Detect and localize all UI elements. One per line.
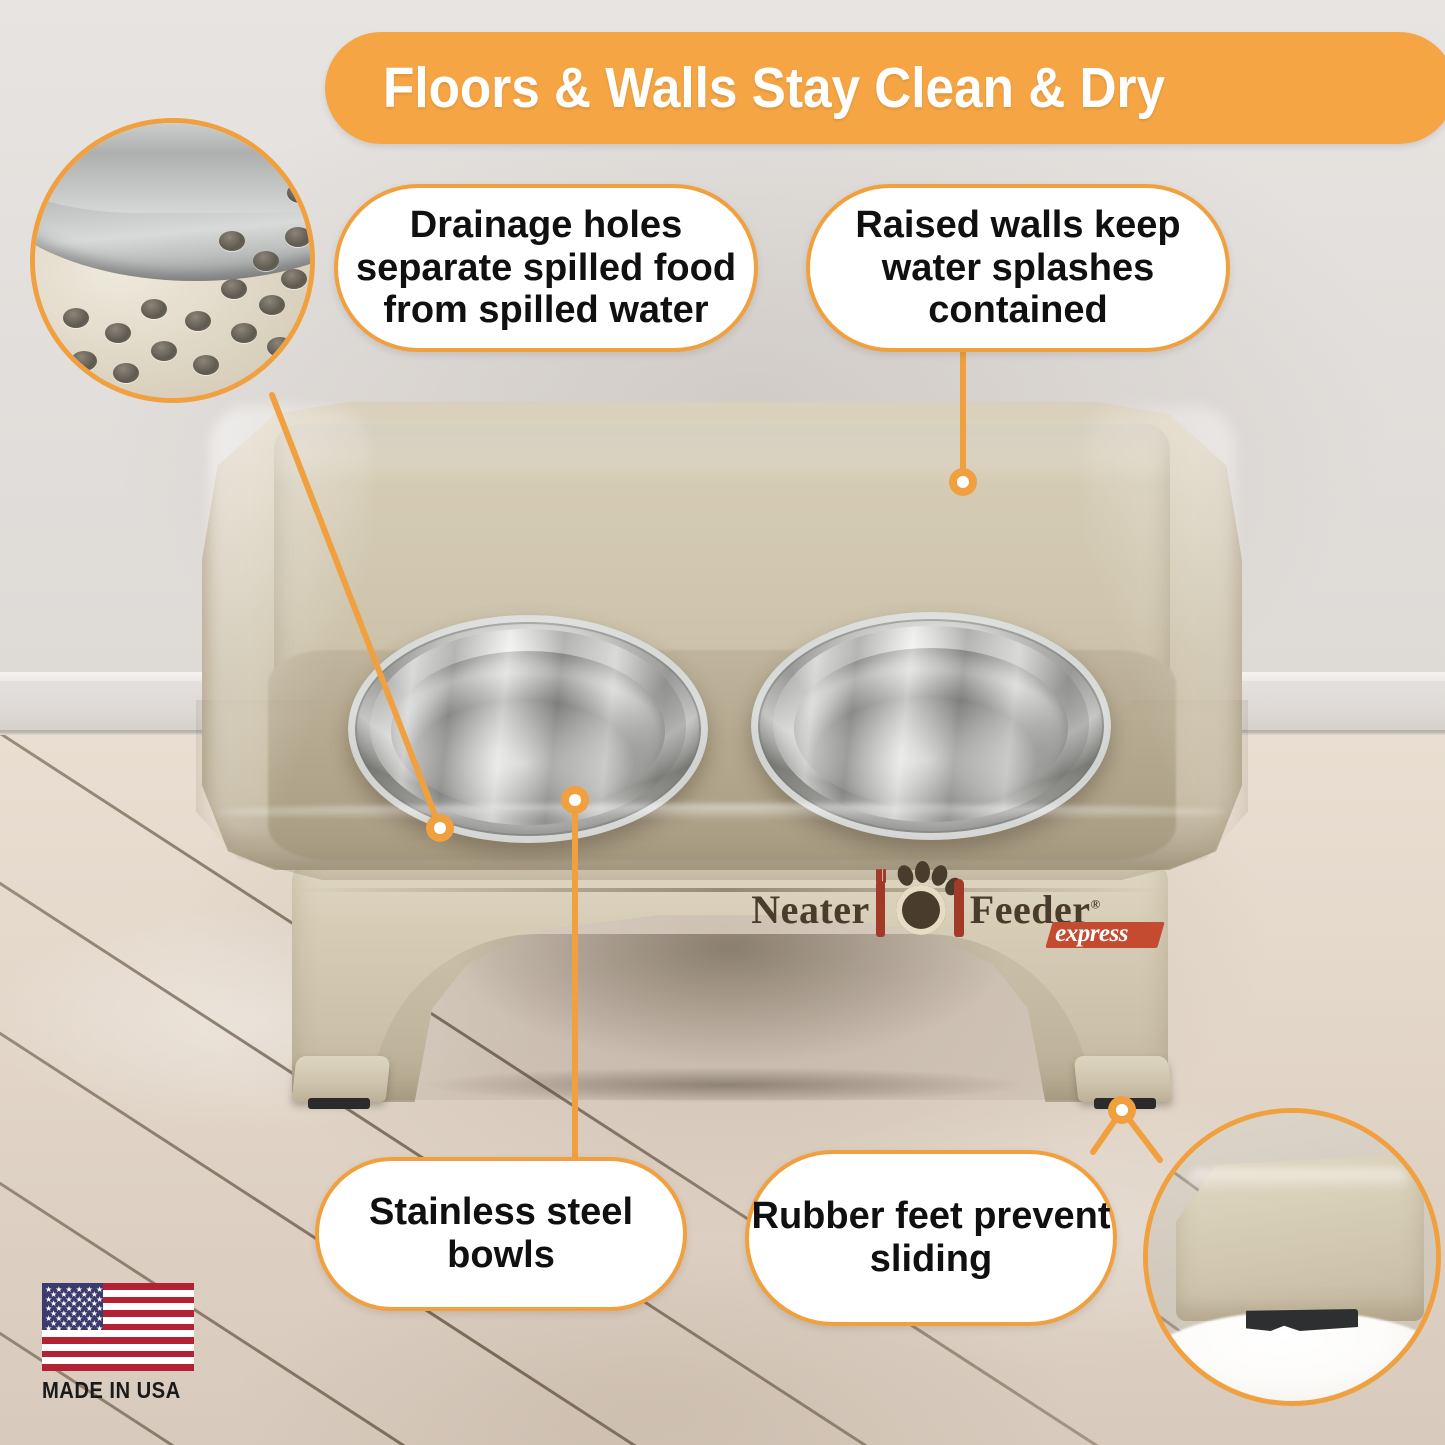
paw-plate-center <box>904 893 938 927</box>
flag-star: ★ <box>65 1325 72 1333</box>
drainage-bowl-rim <box>30 118 315 213</box>
paw-toe-1 <box>895 863 916 888</box>
neater-feeder-logo: Neater Feeder® express <box>716 860 1136 958</box>
flag-star: ★ <box>96 1325 103 1333</box>
drainage-hole <box>281 269 307 289</box>
drainage-hole <box>113 363 139 383</box>
callout-stainless-steel-bowls-label: Stainless steel bowls <box>319 1191 683 1277</box>
registered-mark: ® <box>1090 896 1100 911</box>
paw-plate-icon <box>874 863 966 955</box>
base-arch-shadow <box>372 934 1090 1100</box>
drainage-hole <box>267 337 293 357</box>
callout-rubber-feet[interactable]: Rubber feet prevent sliding <box>745 1150 1117 1326</box>
bowl-right-interior <box>794 648 1068 808</box>
anchor-dot-raised-walls <box>949 468 977 496</box>
flag-star: ★ <box>76 1325 83 1333</box>
tray-gloss-right <box>1084 406 1234 826</box>
drainage-hole <box>63 308 89 328</box>
neater-feeder-product: Neater Feeder® express <box>196 400 1248 1115</box>
flag-stripe <box>42 1364 194 1371</box>
drainage-hole <box>259 295 285 315</box>
drainage-hole <box>253 251 279 271</box>
tray-gloss-left <box>210 406 370 836</box>
drainage-hole <box>287 183 313 203</box>
callout-stainless-steel-bowls[interactable]: Stainless steel bowls <box>315 1157 687 1311</box>
anchor-dot-rubber-feet <box>1108 1096 1136 1124</box>
flag-stripe <box>42 1351 194 1358</box>
rubber-pad-icon <box>1246 1309 1358 1331</box>
drainage-hole <box>141 299 167 319</box>
callout-raised-walls[interactable]: Raised walls keep water splashes contain… <box>806 184 1230 352</box>
tray-inner-highlight <box>274 424 1170 484</box>
drainage-hole <box>285 227 311 247</box>
anchor-dot-drainage-holes <box>426 814 454 842</box>
callout-drainage-holes[interactable]: Drainage holes separate spilled food fro… <box>334 184 758 352</box>
drainage-hole <box>193 355 219 375</box>
headline-text: Floors & Walls Stay Clean & Dry <box>383 55 1165 121</box>
made-in-usa-label: MADE IN USA <box>42 1377 176 1404</box>
usa-flag-icon: ★★★★★★★★★★★★★★★★★★★★★★★★★★★★★★★★★★★★★★★★… <box>42 1283 194 1371</box>
drainage-hole <box>221 279 247 299</box>
callout-raised-walls-label: Raised walls keep water splashes contain… <box>810 204 1226 333</box>
logo-word-neater: Neater <box>751 886 869 933</box>
knife-icon <box>954 879 964 937</box>
drainage-hole <box>185 311 211 331</box>
drainage-hole <box>105 323 131 343</box>
drainage-hole <box>231 323 257 343</box>
flag-star: ★ <box>86 1325 93 1333</box>
logo-express-text: express <box>1055 920 1128 947</box>
product-foot-left <box>292 1056 391 1102</box>
flag-star: ★ <box>55 1325 62 1333</box>
callout-rubber-feet-label: Rubber feet prevent sliding <box>749 1195 1113 1281</box>
bowl-left-interior <box>391 651 665 811</box>
flag-stripe <box>42 1337 194 1344</box>
headline-banner: Floors & Walls Stay Clean & Dry <box>325 32 1445 144</box>
feet-closeup-leg-highlight <box>1188 1169 1408 1191</box>
drainage-hole <box>71 351 97 371</box>
drainage-hole <box>151 341 177 361</box>
rubber-feet-closeup-icon <box>1143 1108 1441 1406</box>
logo-express-tag: express <box>1055 920 1128 948</box>
anchor-dot-stainless-bowls <box>561 786 589 814</box>
drainage-holes-closeup-icon <box>30 118 315 403</box>
paw-toe-2 <box>915 861 930 883</box>
callout-drainage-holes-label: Drainage holes separate spilled food fro… <box>338 204 754 333</box>
made-in-usa-badge: ★★★★★★★★★★★★★★★★★★★★★★★★★★★★★★★★★★★★★★★★… <box>42 1283 194 1405</box>
flag-star: ★ <box>45 1325 52 1333</box>
drainage-hole <box>219 231 245 251</box>
rubber-foot-pad-left <box>308 1098 370 1109</box>
infographic-canvas: Neater Feeder® express <box>0 0 1445 1445</box>
fork-icon <box>876 881 885 937</box>
